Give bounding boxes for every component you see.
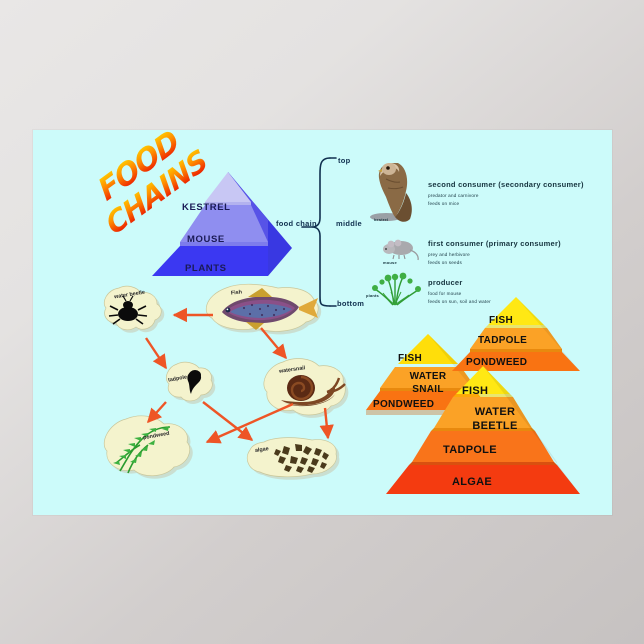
bracket-label-middle: middle bbox=[336, 219, 362, 228]
blue-pyramid-label-kestrel: KESTREL bbox=[182, 202, 231, 213]
description-line-2: feeds on seeds bbox=[428, 259, 618, 267]
orange-main-label-water-beetle: WATERBEETLE bbox=[445, 405, 545, 434]
description-line-1: predator and carnivore bbox=[428, 192, 618, 200]
mouse-caption: mouse bbox=[383, 260, 397, 265]
description-line-2: feeds on mice bbox=[428, 200, 618, 208]
blue-pyramid-label-plants: PLANTS bbox=[185, 263, 227, 274]
orange-main-label-fish: FISH bbox=[462, 385, 488, 397]
orange-topright-label-tadpole: TADPOLE bbox=[478, 335, 527, 346]
orange-main-label-algae: ALGAE bbox=[452, 476, 492, 488]
orange-topright-label-fish: FISH bbox=[489, 315, 513, 326]
orange-main-label-tadpole: TADPOLE bbox=[443, 444, 497, 456]
description-line-1: prey and herbivore bbox=[428, 251, 618, 259]
description-second-consumer: second consumer (secondary consumer) pre… bbox=[428, 180, 618, 208]
orange-left-label-fish: FISH bbox=[398, 353, 422, 364]
blue-pyramid-label-mouse: MOUSE bbox=[187, 234, 225, 245]
description-heading: producer bbox=[428, 278, 618, 287]
mouse-illustration bbox=[374, 237, 424, 268]
description-first-consumer: first consumer (primary consumer) prey a… bbox=[428, 239, 618, 267]
description-heading: second consumer (secondary consumer) bbox=[428, 180, 618, 189]
bracket-label-top: top bbox=[338, 156, 351, 165]
description-heading: first consumer (primary consumer) bbox=[428, 239, 618, 248]
poster-stage: FOOD CHAINS KESTREL MOUSE PLANTS food ch… bbox=[0, 0, 644, 644]
kestrel-caption: kestrel bbox=[374, 217, 388, 222]
bracket-label-food-chain: food chain bbox=[276, 219, 317, 228]
food-web-arrows bbox=[88, 280, 388, 480]
